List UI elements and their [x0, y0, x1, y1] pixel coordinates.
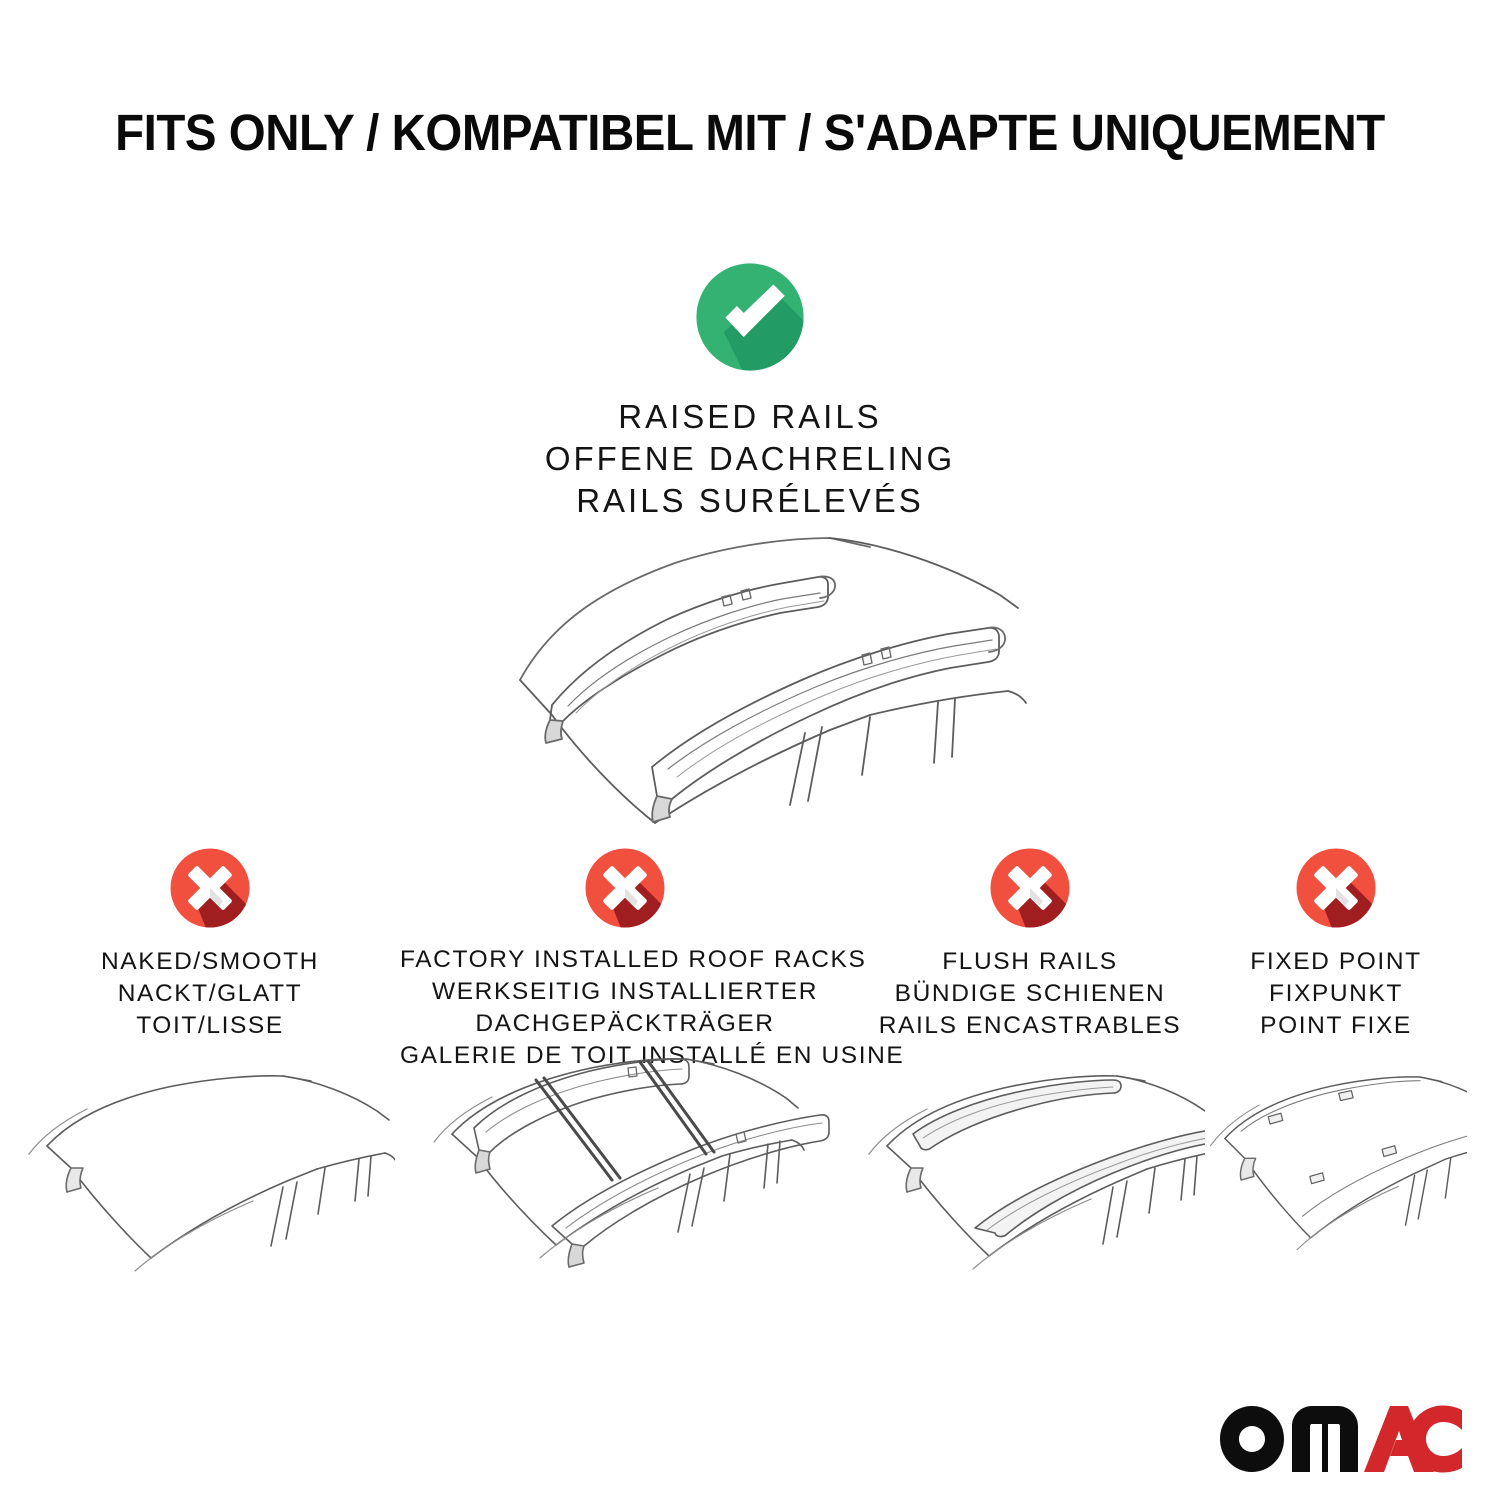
incompatible-item-factory-roof-racks: FACTORY INSTALLED ROOF RACKS WERKSEITIG …	[400, 846, 850, 1071]
red-cross-circle-icon	[988, 846, 1072, 930]
caption-line-3: TOIT/LISSE	[25, 1010, 395, 1042]
car-roof-naked-smooth-illustration	[25, 1068, 395, 1298]
compatible-caption: RAISED RAILS OFFENE DACHRELING RAILS SUR…	[0, 396, 1500, 523]
compatible-line-1: RAISED RAILS	[0, 396, 1500, 438]
caption-line-2: NACKT/GLATT	[25, 978, 395, 1010]
caption-line-1: NAKED/SMOOTH	[25, 946, 395, 978]
caption-line-1: FACTORY INSTALLED ROOF RACKS	[400, 944, 850, 976]
incompatible-item-flush-rails: FLUSH RAILS BÜNDIGE SCHIENEN RAILS ENCAS…	[855, 846, 1205, 1042]
car-roof-fixed-point-illustration	[1205, 1068, 1467, 1276]
caption-line-2: BÜNDIGE SCHIENEN	[855, 978, 1205, 1010]
red-cross-circle-icon	[1294, 846, 1378, 930]
car-roof-flush-rails-illustration	[855, 1068, 1205, 1298]
caption-line-1: FLUSH RAILS	[855, 946, 1205, 978]
omac-logo	[1212, 1396, 1470, 1482]
caption-line-3: POINT FIXE	[1205, 1010, 1467, 1042]
caption-line-2: WERKSEITIG INSTALLIERTER	[400, 976, 850, 1008]
incompatible-item-naked-smooth: NAKED/SMOOTH NACKT/GLATT TOIT/LISSE	[25, 846, 395, 1042]
green-check-circle-icon	[693, 260, 807, 374]
caption-line-2: FIXPUNKT	[1205, 978, 1467, 1010]
red-cross-circle-icon	[168, 846, 252, 930]
compatible-line-2: OFFENE DACHRELING	[0, 438, 1500, 480]
omac-wordmark-icon	[1212, 1396, 1470, 1482]
red-cross-circle-icon	[583, 846, 667, 930]
car-roof-with-raised-rails-illustration	[400, 505, 1100, 835]
caption-line-1: FIXED POINT	[1205, 946, 1467, 978]
incompatible-caption: FIXED POINT FIXPUNKT POINT FIXE	[1205, 946, 1467, 1042]
incompatible-caption: NAKED/SMOOTH NACKT/GLATT TOIT/LISSE	[25, 946, 395, 1042]
incompatible-section: NAKED/SMOOTH NACKT/GLATT TOIT/LISSE	[0, 846, 1500, 1286]
caption-line-3: DACHGEPÄCKTRÄGER	[400, 1008, 850, 1040]
page-title: FITS ONLY / KOMPATIBEL MIT / S'ADAPTE UN…	[53, 105, 1448, 161]
incompatible-item-fixed-point: FIXED POINT FIXPUNKT POINT FIXE	[1205, 846, 1467, 1042]
car-roof-factory-roof-racks-illustration	[400, 1042, 850, 1292]
incompatible-caption: FLUSH RAILS BÜNDIGE SCHIENEN RAILS ENCAS…	[855, 946, 1205, 1042]
caption-line-3: RAILS ENCASTRABLES	[855, 1010, 1205, 1042]
compatible-section: RAISED RAILS OFFENE DACHRELING RAILS SUR…	[0, 260, 1500, 523]
